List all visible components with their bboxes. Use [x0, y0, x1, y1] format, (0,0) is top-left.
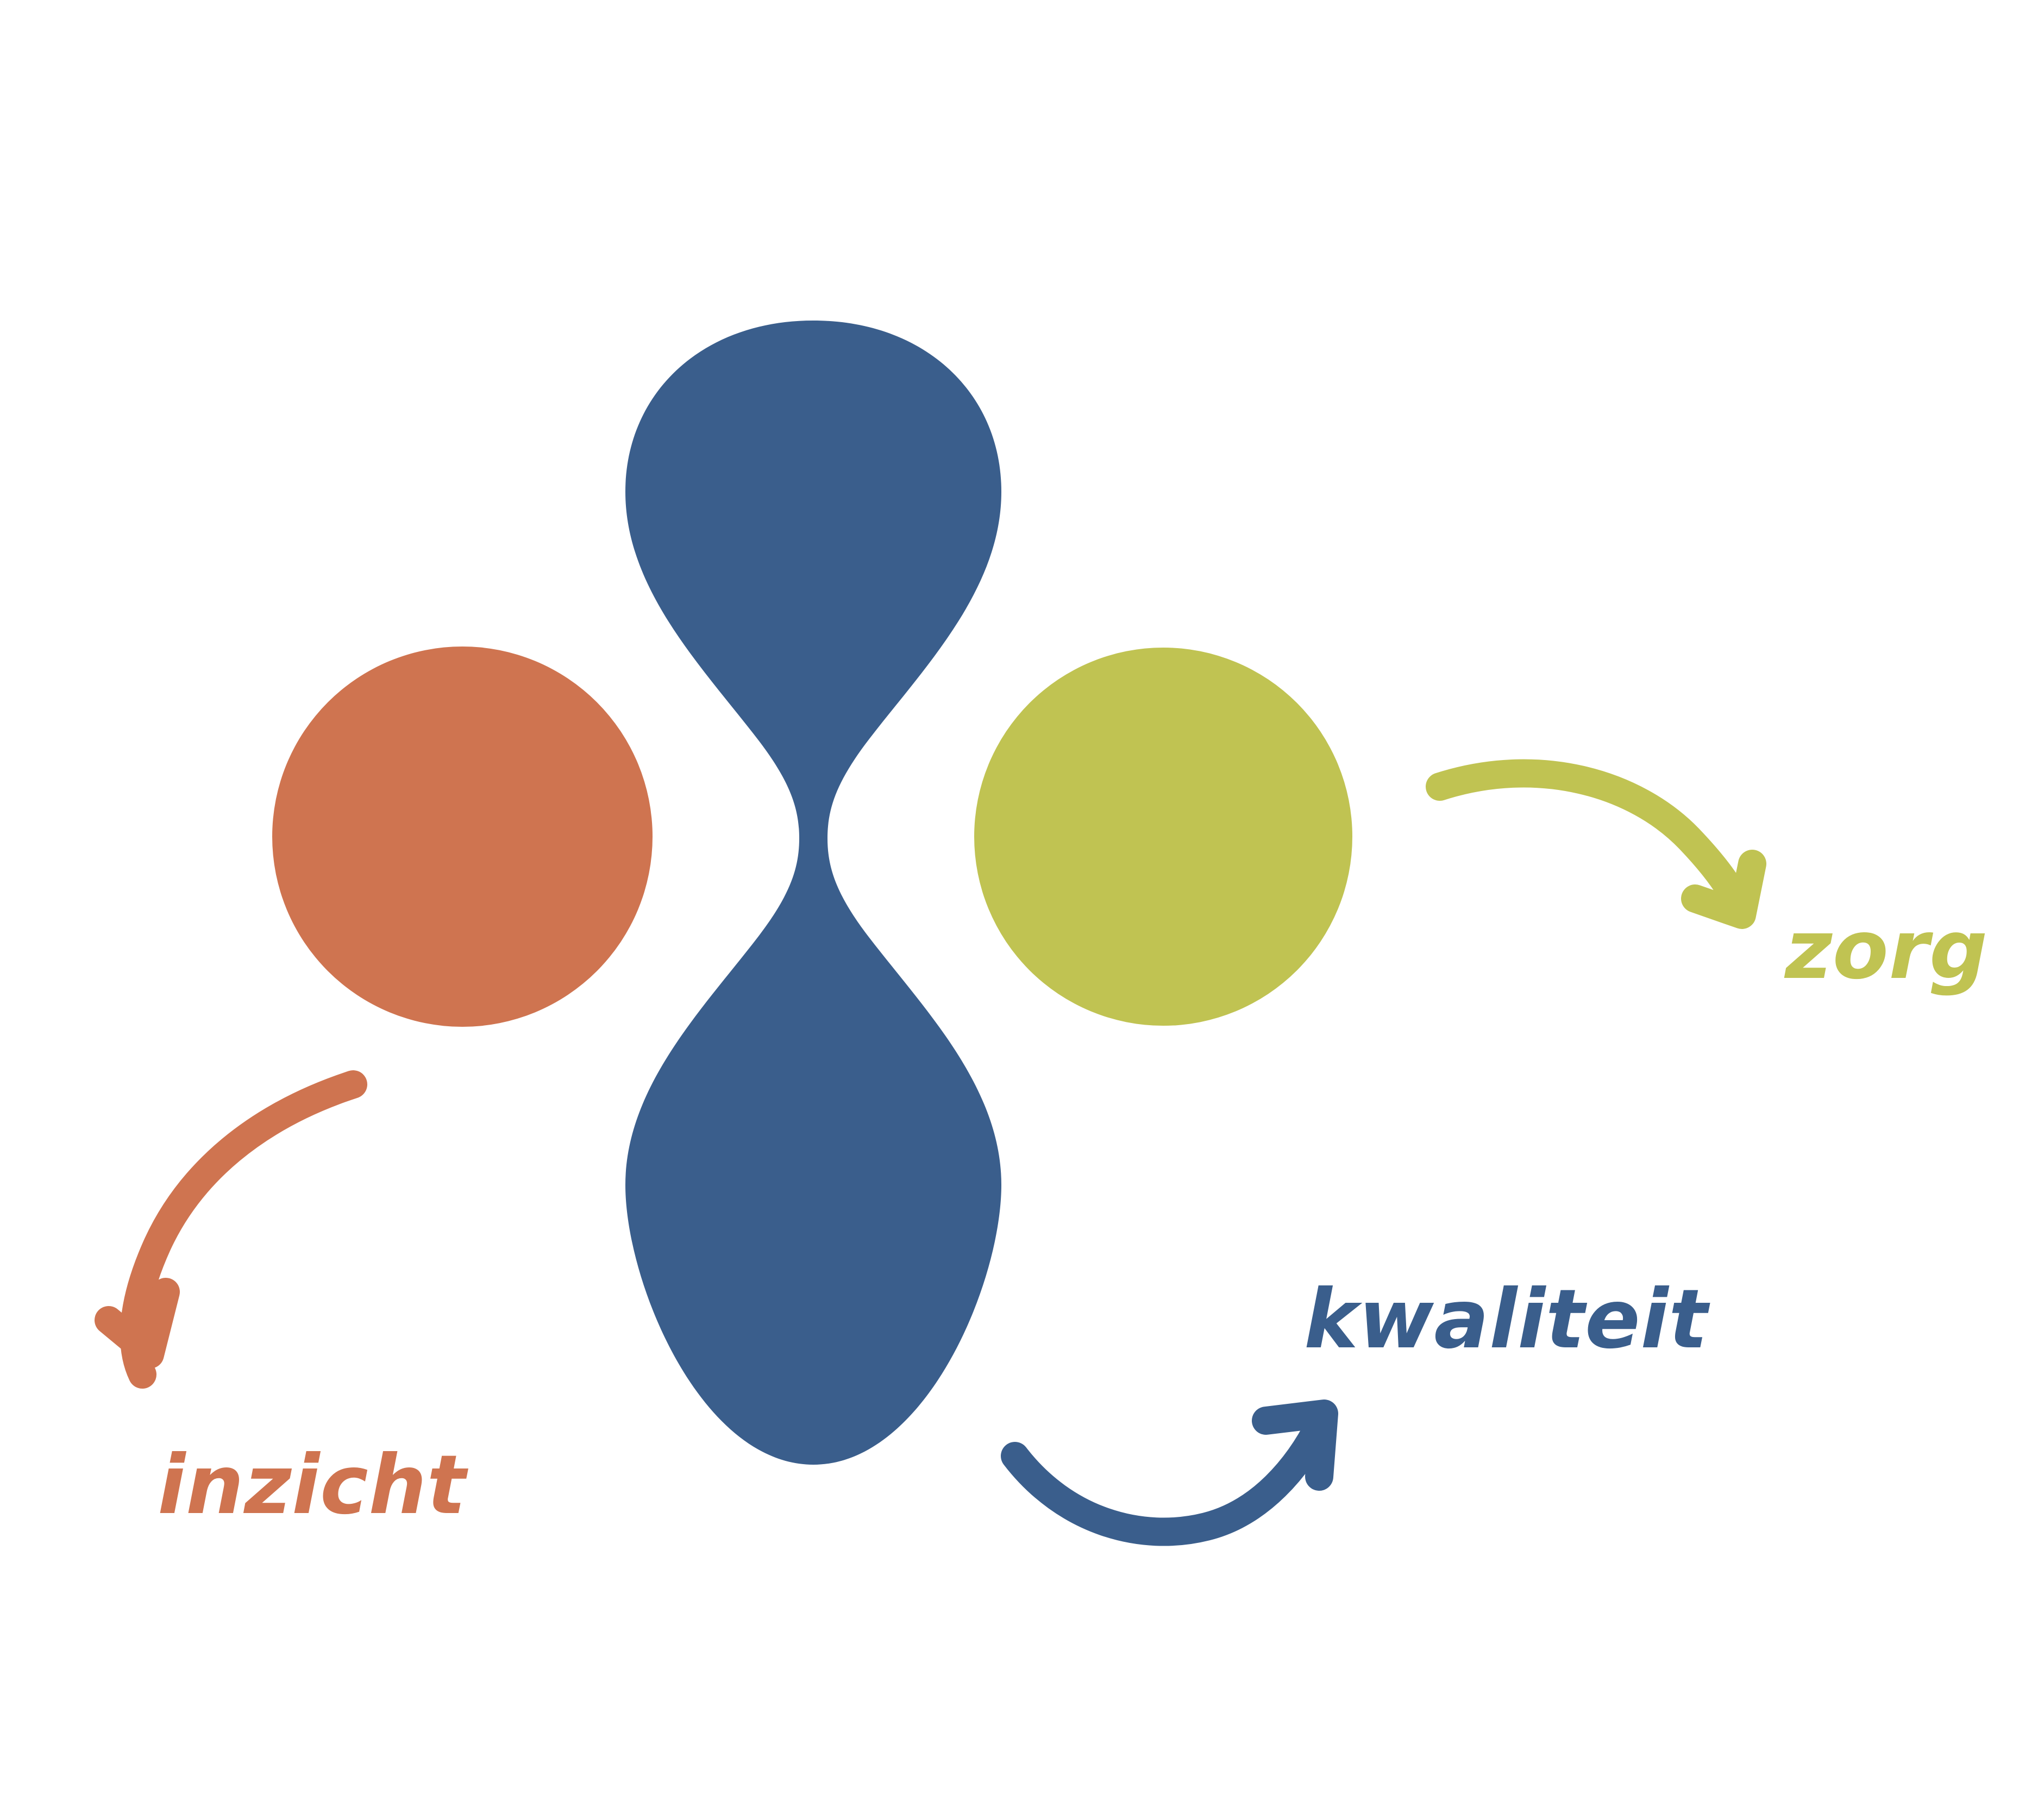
- label-kwaliteit: kwaliteit: [1304, 1272, 1710, 1367]
- center-blue-hourglass: [625, 321, 1001, 1465]
- green-arrow: [1440, 773, 1752, 915]
- left-orange-circle: [272, 647, 653, 1027]
- right-green-circle: [974, 648, 1352, 1026]
- circle-shape: [272, 647, 653, 1027]
- label-zorg: zorg: [1784, 903, 1988, 997]
- brand-logo-graphic: inzicht kwaliteit zorg: [0, 0, 2044, 1795]
- hourglass-shape-path: [625, 321, 1001, 1465]
- curved-arrow-up-right-icon: [1015, 1423, 1320, 1532]
- blue-arrow: [1015, 1414, 1324, 1532]
- logo-canvas: inzicht kwaliteit zorg: [0, 0, 2044, 1795]
- circle-shape: [974, 648, 1352, 1026]
- label-inzicht: inzicht: [158, 1438, 469, 1533]
- orange-arrow: [109, 1084, 353, 1375]
